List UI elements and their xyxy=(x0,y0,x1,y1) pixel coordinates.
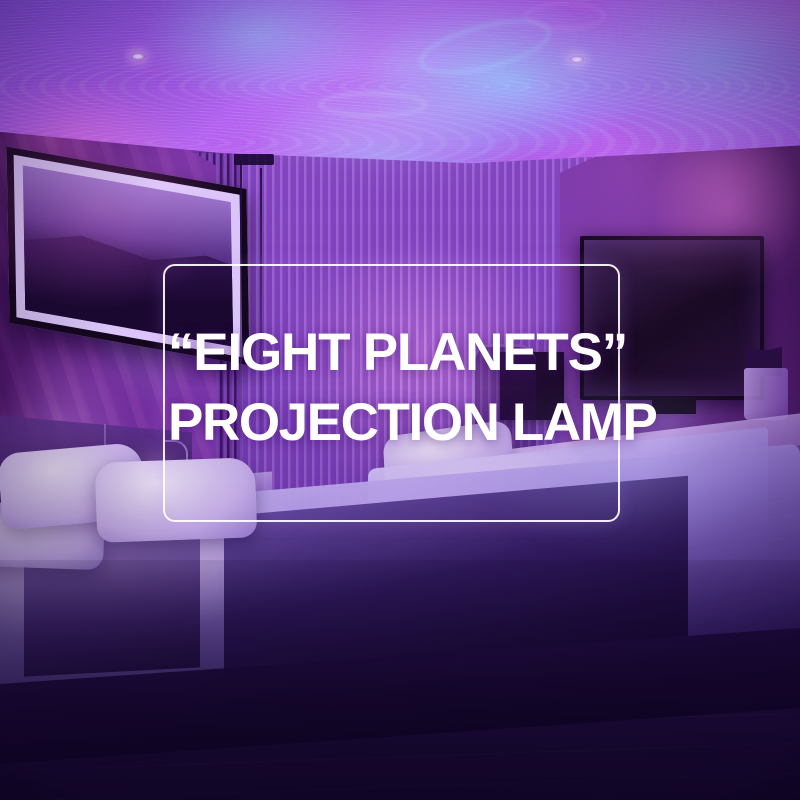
projection-ring-icon xyxy=(525,2,606,30)
headline-line-2: PROJECTION LAMP xyxy=(168,388,638,458)
product-poster: “EIGHT PLANETS” PROJECTION LAMP xyxy=(0,0,800,800)
projection-ring-icon xyxy=(319,92,427,118)
page-title: “EIGHT PLANETS” PROJECTION LAMP xyxy=(168,318,638,458)
tv-stand xyxy=(652,397,696,415)
recessed-downlight-icon xyxy=(570,56,584,63)
headline-line-1: “EIGHT PLANETS” xyxy=(168,318,638,388)
plant-pot xyxy=(744,368,788,420)
floor-shadow-overlay xyxy=(0,560,800,800)
